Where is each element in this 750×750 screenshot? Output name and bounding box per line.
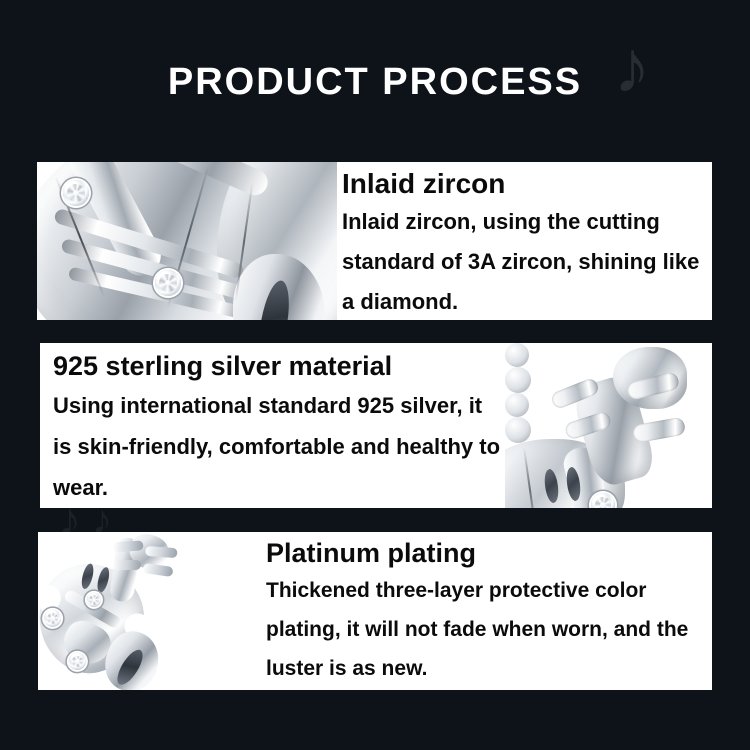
feature-text-inlaid-zircon: Inlaid zircon Inlaid zircon, using the c…	[337, 162, 712, 320]
feature-body: Using international standard 925 silver,…	[53, 385, 503, 508]
feature-panel-sterling-silver: 925 sterling silver material Using inter…	[40, 343, 712, 508]
tuning-peg	[113, 560, 141, 570]
feature-panel-inlaid-zircon: Inlaid zircon Inlaid zircon, using the c…	[37, 162, 712, 320]
violin-headstock-illustration	[505, 343, 712, 508]
feature-body: Thickened three-layer protective color p…	[266, 571, 712, 688]
zircon-stone	[63, 180, 89, 206]
tuning-peg-knob	[505, 367, 531, 393]
feature-title: Platinum plating	[266, 538, 476, 569]
header-banner: PRODUCT PROCESS ♪	[0, 0, 750, 162]
feature-title: Inlaid zircon	[342, 168, 505, 200]
tuning-peg	[142, 563, 173, 577]
feature-body: Inlaid zircon, using the cutting standar…	[342, 202, 712, 320]
feature-title: 925 sterling silver material	[53, 351, 392, 382]
music-note-icon: ♪	[604, 28, 660, 106]
tuning-peg-knob	[505, 343, 529, 367]
feature-text-sterling-silver: 925 sterling silver material Using inter…	[40, 343, 505, 508]
product-image-inlaid-zircon	[37, 162, 337, 320]
tuning-peg	[113, 540, 144, 552]
tuning-peg	[145, 546, 178, 558]
silver-ring-macro-illustration	[37, 162, 337, 320]
feature-panel-platinum-plating: Platinum plating Thickened three-layer p…	[38, 532, 712, 690]
feature-text-platinum-plating: Platinum plating Thickened three-layer p…	[266, 532, 712, 690]
product-image-platinum-plating	[38, 532, 266, 690]
tuning-peg-knob	[505, 393, 529, 417]
violin-ring-illustration	[38, 532, 266, 690]
zircon-stone	[155, 270, 181, 296]
violin-ring-group	[38, 532, 199, 690]
product-image-sterling-silver	[505, 343, 712, 508]
tuning-peg-knob	[505, 417, 531, 443]
